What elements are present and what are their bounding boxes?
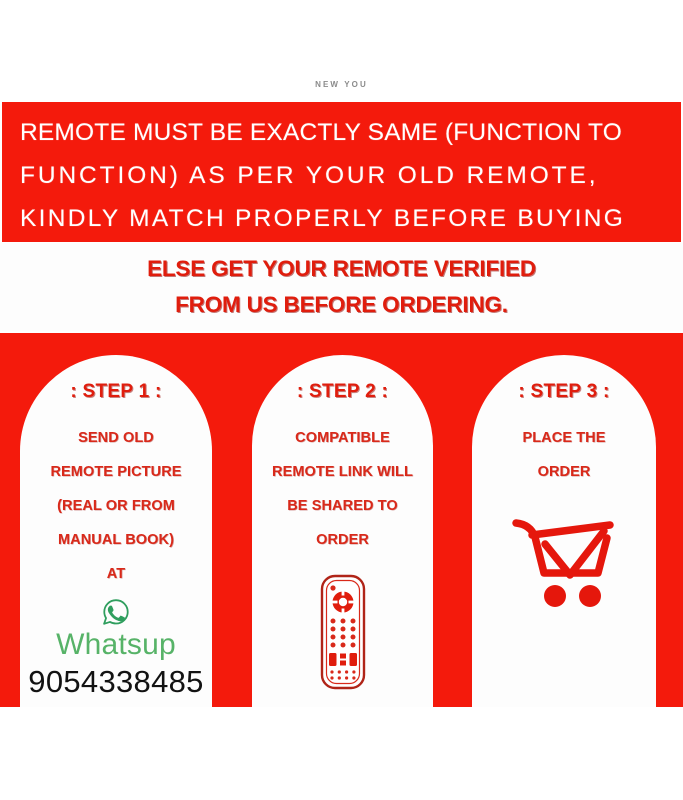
step-card-2: : STEP 2 : COMPATIBLE REMOTE LINK WILL B… <box>252 355 433 707</box>
shopping-cart-check-icon <box>510 513 618 613</box>
step-3-line-2: ORDER <box>472 455 656 489</box>
step-1-line-2: REMOTE PICTURE <box>20 455 212 489</box>
warning-banner-line-3: KINDLY MATCH PROPERLY BEFORE BUYING <box>20 197 663 240</box>
steps-panel: : STEP 1 : SEND OLD REMOTE PICTURE (REAL… <box>0 333 683 707</box>
whatsapp-icon-wrap <box>20 597 212 627</box>
verify-notice: ELSE GET YOUR REMOTE VERIFIED FROM US BE… <box>0 243 683 331</box>
whatsapp-number[interactable]: 9054338485 <box>20 662 212 702</box>
step-1-line-4: MANUAL BOOK) <box>20 523 212 557</box>
whatsapp-icon <box>101 597 131 627</box>
step-2-line-2: REMOTE LINK WILL <box>252 455 433 489</box>
step-2-title: : STEP 2 : <box>252 381 433 403</box>
verify-notice-line-1: ELSE GET YOUR REMOTE VERIFIED <box>147 251 536 287</box>
warning-banner-line-2: FUNCTION) AS PER YOUR OLD REMOTE, <box>20 154 663 197</box>
step-card-1: : STEP 1 : SEND OLD REMOTE PICTURE (REAL… <box>20 355 212 707</box>
step-1-title: : STEP 1 : <box>20 381 212 403</box>
warning-banner: REMOTE MUST BE EXACTLY SAME (FUNCTION TO… <box>2 102 681 242</box>
remote-icon-holder <box>252 573 433 691</box>
step-2-line-1: COMPATIBLE <box>252 421 433 455</box>
whatsapp-label[interactable]: Whatsup <box>20 627 212 663</box>
verify-notice-line-2: FROM US BEFORE ORDERING. <box>175 287 508 323</box>
remote-control-icon <box>319 573 367 691</box>
step-2-line-3: BE SHARED TO <box>252 489 433 523</box>
step-1-line-1: SEND OLD <box>20 421 212 455</box>
step-1-line-3: (REAL OR FROM <box>20 489 212 523</box>
step-1-line-5: AT <box>20 557 212 591</box>
step-3-line-1: PLACE THE <box>472 421 656 455</box>
warning-banner-line-1: REMOTE MUST BE EXACTLY SAME (FUNCTION TO <box>20 111 663 154</box>
brand-name: NEW YOU <box>0 80 683 89</box>
step-card-3: : STEP 3 : PLACE THE ORDER <box>472 355 656 707</box>
step-3-title: : STEP 3 : <box>472 381 656 403</box>
cart-icon-holder <box>472 513 656 613</box>
step-2-line-4: ORDER <box>252 523 433 557</box>
